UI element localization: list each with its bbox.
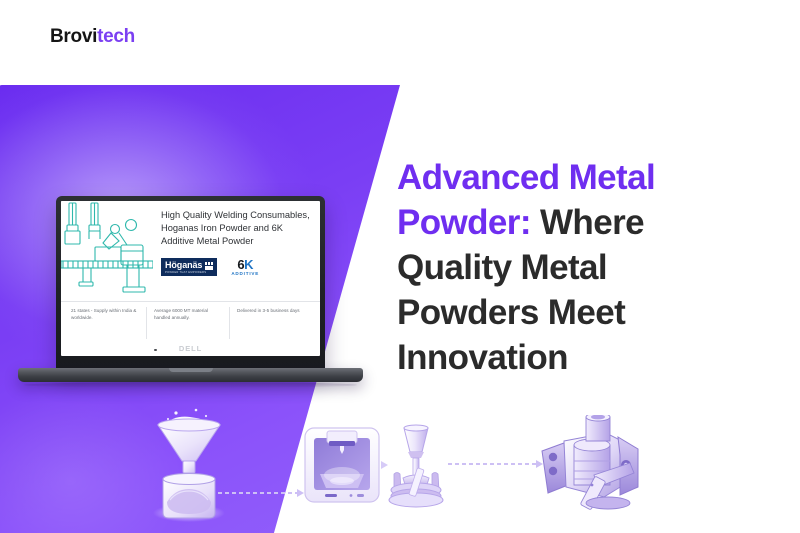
screen-stats-row: 21 states - Supply within India & worldw…: [61, 301, 320, 341]
machined-industrial-part-icon: [534, 415, 654, 528]
dell-brand-mark: DELL: [179, 344, 202, 353]
laptop-screen: High Quality Welding Consumables, Hogana…: [61, 201, 320, 356]
laptop-lid: High Quality Welding Consumables, Hogana…: [56, 196, 325, 371]
laptop-base: [18, 368, 363, 382]
laptop-shadow: [24, 382, 357, 388]
6k-additive-logo: 6K ADDITIVE: [231, 258, 259, 277]
factory-assembly-line-illustration: [61, 201, 153, 301]
hero-banner: Brovitech Advanced Metal Powder: Where Q…: [0, 0, 800, 533]
laptop-mockup: High Quality Welding Consumables, Hogana…: [18, 196, 363, 400]
brand-logo-part-two: tech: [97, 26, 135, 47]
process-arrow-3: [448, 463, 543, 465]
brand-logo[interactable]: Brovitech: [50, 27, 135, 46]
powder-funnel-and-beaker-icon: [146, 405, 232, 530]
screen-headline: High Quality Welding Consumables, Hogana…: [161, 209, 310, 249]
laptop-bottom-bezel: DELL: [61, 341, 320, 356]
arrow-line: [448, 463, 536, 465]
printed-goblet-part-icon: [385, 424, 447, 513]
brand-logo-part-one: Brovi: [50, 26, 97, 47]
hoganas-logo-label: Höganäs: [165, 261, 202, 270]
stat-item: 21 states - Supply within India & worldw…: [69, 307, 146, 339]
hoganas-logo-tagline: POWDER THAT EMPOWERS: [165, 272, 206, 275]
3d-printer-icon: [303, 425, 381, 512]
webcam-icon: [154, 349, 157, 352]
6k-logo-letter: K: [244, 257, 253, 272]
screen-partner-logos: Höganäs POWDER THAT EMPOWERS 6K ADDITIVE: [161, 258, 310, 277]
6k-logo-subtitle: ADDITIVE: [231, 272, 259, 277]
stat-item: Delivered in 3-5 business days: [229, 307, 312, 339]
page-title: Advanced Metal Powder: Where Quality Met…: [397, 156, 757, 381]
hoganas-crown-icon: [205, 262, 213, 270]
hoganas-logo: Höganäs POWDER THAT EMPOWERS: [161, 258, 217, 276]
stat-item: Average 6000 MT material handled annuall…: [146, 307, 229, 339]
